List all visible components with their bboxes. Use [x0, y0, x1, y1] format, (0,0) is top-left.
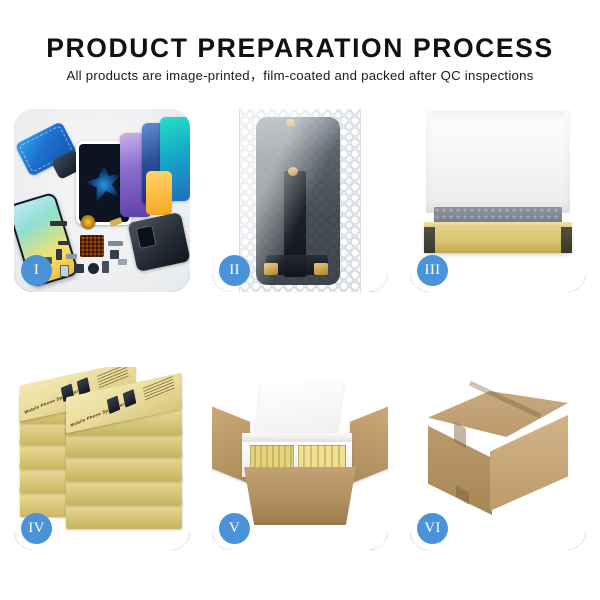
foam-sheet	[426, 109, 570, 213]
step-badge-5: V	[219, 513, 250, 544]
step-badge-3: III	[417, 255, 448, 286]
foam-cooler-rim	[242, 433, 352, 442]
spare-part	[66, 254, 77, 259]
carton-front-face	[244, 467, 356, 525]
product-preparation-infographic: PRODUCT PREPARATION PROCESS All products…	[0, 0, 600, 600]
spare-part	[108, 241, 123, 246]
step-badge-2: II	[219, 255, 250, 286]
page-title: PRODUCT PREPARATION PROCESS	[0, 33, 600, 63]
spare-part	[88, 263, 99, 274]
step-panel-4: Mobile Phone Spare Parts Mobile Phone Sp…	[14, 368, 190, 550]
spare-part	[74, 264, 84, 273]
spare-part	[60, 265, 69, 277]
process-step-grid: I II	[14, 110, 586, 550]
step-panel-1: I	[14, 110, 190, 292]
step-panel-2: II	[212, 110, 388, 292]
amber-phone	[146, 171, 172, 215]
chip-array-part	[80, 235, 104, 257]
bubble-wrap-bag	[240, 109, 360, 292]
kraft-inner-box	[424, 227, 572, 253]
header: PRODUCT PREPARATION PROCESS All products…	[0, 0, 600, 84]
step-badge-1: I	[21, 255, 52, 286]
step-panel-6: VI	[410, 368, 586, 550]
step-badge-6: VI	[417, 513, 448, 544]
copper-coil-part	[81, 215, 95, 229]
spare-part	[56, 249, 62, 260]
spare-part	[110, 250, 119, 259]
page-subtitle: All products are image-printed，film-coat…	[0, 68, 600, 84]
step-panel-5: V	[212, 368, 388, 550]
spare-part	[102, 261, 109, 273]
spare-part	[118, 259, 127, 265]
spare-part	[50, 221, 67, 226]
step-panel-3: III	[410, 110, 586, 292]
spare-part	[58, 241, 70, 245]
step-badge-4: IV	[21, 513, 52, 544]
